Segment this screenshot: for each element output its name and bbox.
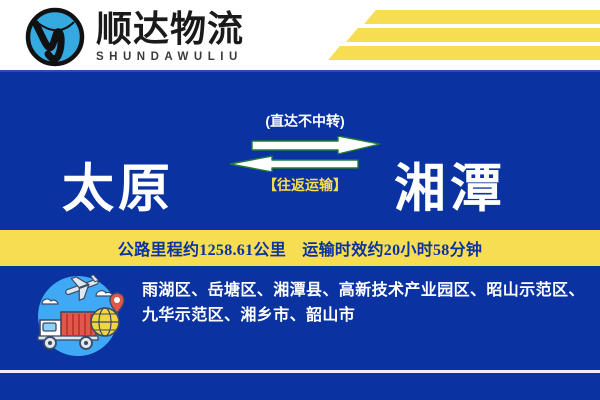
- stripe-2: [346, 28, 600, 42]
- bidirectional-arrow-icon: [230, 136, 380, 172]
- banner-header: 顺达物流 SHUNDAWULIU: [0, 0, 600, 72]
- brand-name-cn: 顺达物流: [96, 10, 244, 48]
- truck-airplane-globe-icon: [22, 274, 134, 358]
- banner-footer: [0, 373, 600, 400]
- brand-logo: 顺达物流 SHUNDAWULIU: [24, 6, 244, 68]
- service-area-section: 雨湖区、岳塘区、湘潭县、高新技术产业园区、昭山示范区、九华示范区、湘乡市、韶山市: [0, 266, 600, 370]
- brand-text: 顺达物流 SHUNDAWULIU: [96, 10, 244, 65]
- origin-city: 太原: [62, 147, 174, 222]
- destination-city: 湘潭: [394, 147, 506, 222]
- round-trip-note: 【往返运输】: [230, 176, 380, 194]
- service-area-list: 雨湖区、岳塘区、湘潭县、高新技术产业园区、昭山示范区、九华示范区、湘乡市、韶山市: [142, 278, 586, 328]
- direct-shipping-note: (直达不中转): [230, 112, 380, 130]
- distance-duration-text: 公路里程约1258.61公里 运输时效约20小时58分钟: [118, 236, 482, 260]
- header-stripes-decoration: [300, 0, 600, 72]
- stripe-1: [364, 10, 600, 24]
- route-section: 太原 (直达不中转) 【往返运输】 湘潭: [0, 72, 600, 228]
- stripe-3: [328, 46, 600, 60]
- brand-name-en: SHUNDAWULIU: [96, 49, 244, 65]
- route-middle: (直达不中转) 【往返运输】: [230, 112, 380, 194]
- distance-duration-bar: 公路里程约1258.61公里 运输时效约20小时58分钟: [0, 230, 600, 266]
- logistics-route-banner: 顺达物流 SHUNDAWULIU 太原 (直达不中转) 【往返运输】 湘潭: [0, 0, 600, 400]
- shunda-circular-swoosh-logo: [24, 6, 86, 68]
